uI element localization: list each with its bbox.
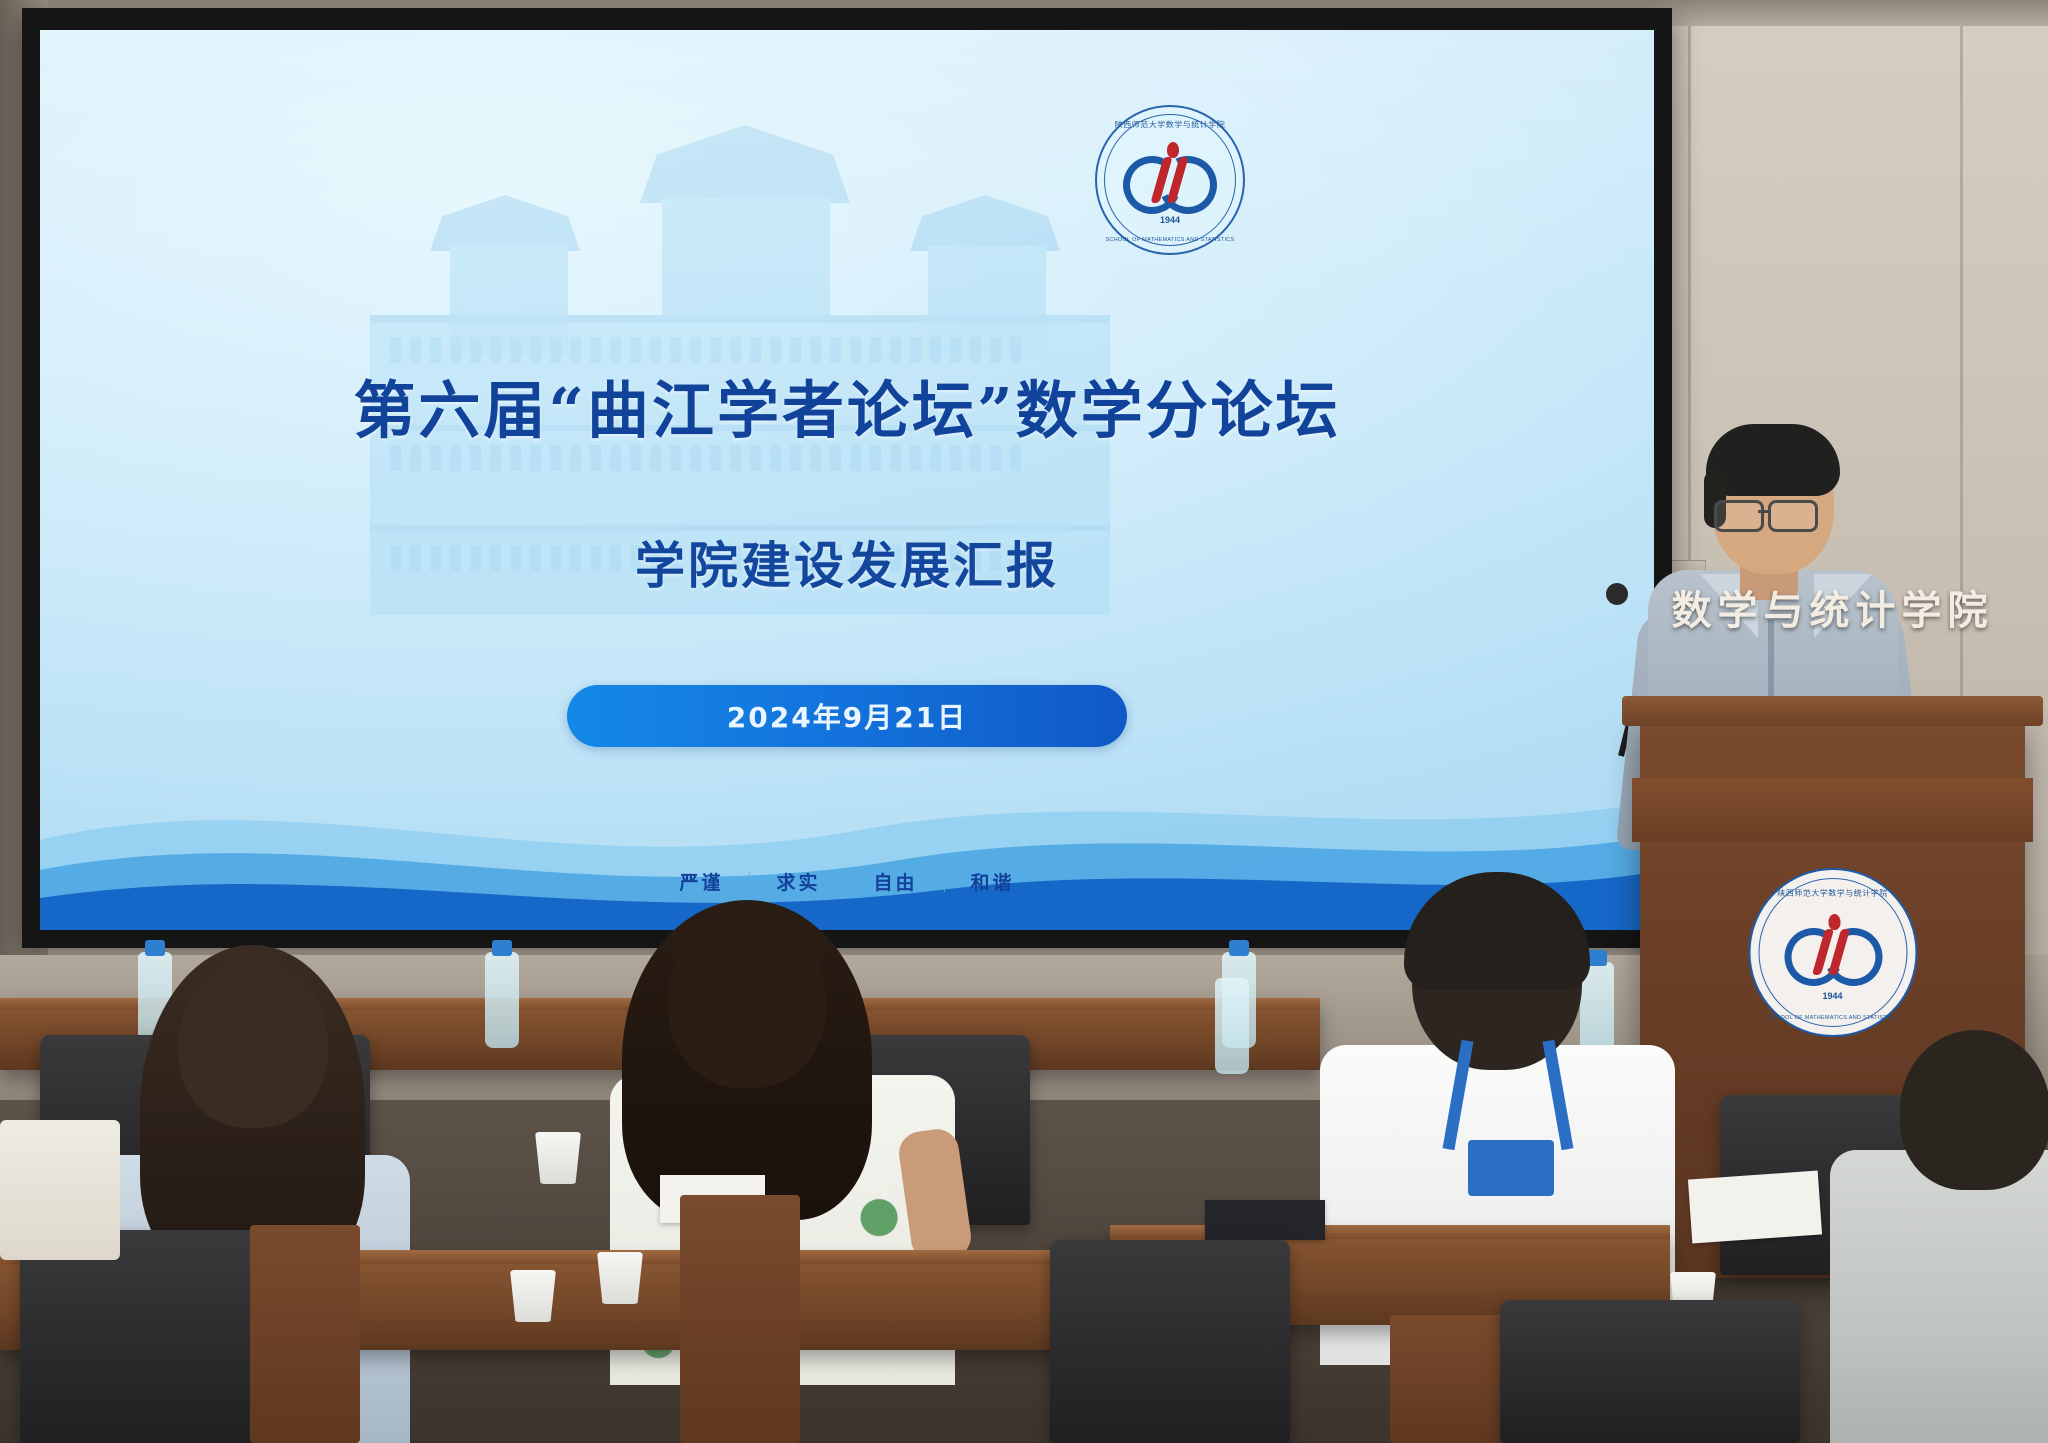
chair-front-center-arm bbox=[680, 1195, 800, 1443]
podium-logo-year: 1944 bbox=[1750, 991, 1915, 1001]
slide-wave-decoration bbox=[40, 720, 1654, 930]
water-bottle bbox=[1215, 978, 1249, 1074]
bottle-cap bbox=[145, 940, 165, 956]
bottle-cap bbox=[1587, 950, 1607, 966]
slide-title: 第六届“曲江学者论坛”数学分论坛 bbox=[40, 360, 1654, 450]
chair-front-left-arm bbox=[250, 1225, 360, 1443]
podium-band bbox=[1632, 778, 2033, 842]
microphone-head-icon bbox=[1606, 583, 1628, 605]
audience-1-head bbox=[178, 960, 328, 1128]
desk-front-right-edge bbox=[1110, 1225, 1670, 1239]
motto-item-2: 求实 bbox=[750, 868, 846, 895]
slide-date-text: 2024年9月21日 bbox=[727, 696, 967, 736]
motto-item-1: 严谨 bbox=[653, 868, 749, 895]
logo-year: 1944 bbox=[1095, 215, 1245, 225]
tote-bag bbox=[0, 1120, 120, 1260]
motto-divider bbox=[847, 872, 848, 892]
chair-front-right bbox=[1500, 1300, 1800, 1443]
school-logo: 陕西师范大学数学与统计学院 1944 SCHOOL OF MATHEMATICS… bbox=[1095, 105, 1245, 255]
logo-english-text: SCHOOL OF MATHEMATICS AND STATISTICS bbox=[1095, 237, 1245, 243]
speaker-glasses-left-lens bbox=[1714, 500, 1764, 532]
slide-subtitle: 学院建设发展汇报 bbox=[40, 526, 1654, 598]
slide-motto: 严谨 求实 自由 和谐 bbox=[40, 868, 1654, 895]
paper-cup bbox=[535, 1132, 581, 1184]
audience-4-head bbox=[1900, 1030, 2048, 1190]
paper-cup bbox=[510, 1270, 556, 1322]
bottle-cap bbox=[492, 940, 512, 956]
audience-4-torso bbox=[1830, 1150, 2048, 1443]
presentation-slide: 陕西师范大学数学与统计学院 1944 SCHOOL OF MATHEMATICS… bbox=[40, 30, 1654, 930]
podium-school-logo: 陕西师范大学数学与统计学院 1944 SCHOOL OF MATHEMATICS… bbox=[1748, 868, 1917, 1037]
logo-emblem-icon bbox=[1123, 150, 1217, 208]
chair-front-center-right bbox=[1050, 1240, 1290, 1443]
podium-top-surface bbox=[1622, 696, 2043, 726]
notebook bbox=[1205, 1200, 1325, 1240]
motto-divider bbox=[749, 872, 750, 892]
projection-screen: 陕西师范大学数学与统计学院 1944 SCHOOL OF MATHEMATICS… bbox=[40, 30, 1654, 930]
logo-chinese-text: 陕西师范大学数学与统计学院 bbox=[1095, 120, 1245, 130]
audience-2-head bbox=[668, 912, 826, 1088]
bottle-cap bbox=[1229, 940, 1249, 956]
speaker-glasses-bridge bbox=[1758, 510, 1770, 513]
presentation-photo-scene: 陕西师范大学数学与统计学院 1944 SCHOOL OF MATHEMATICS… bbox=[0, 0, 2048, 1443]
slide-date-badge: 2024年9月21日 bbox=[567, 685, 1127, 747]
motto-divider bbox=[944, 872, 945, 892]
motto-item-3: 自由 bbox=[848, 868, 944, 895]
speaker-hair bbox=[1706, 424, 1840, 496]
speaker-glasses-right-lens bbox=[1768, 500, 1818, 532]
podium-label: 数学与统计学院 bbox=[1640, 578, 2025, 636]
motto-item-4: 和谐 bbox=[945, 868, 1041, 895]
podium-logo-chinese: 陕西师范大学数学与统计学院 bbox=[1750, 889, 1915, 899]
projection-screen-frame: 陕西师范大学数学与统计学院 1944 SCHOOL OF MATHEMATICS… bbox=[22, 8, 1672, 948]
document-paper bbox=[1688, 1171, 1822, 1244]
audience-3-badge bbox=[1468, 1140, 1554, 1196]
podium-logo-emblem-icon bbox=[1784, 922, 1882, 982]
podium-logo-english: SCHOOL OF MATHEMATICS AND STATISTICS bbox=[1750, 1015, 1915, 1021]
water-bottle bbox=[485, 952, 519, 1048]
paper-cup bbox=[597, 1252, 643, 1304]
